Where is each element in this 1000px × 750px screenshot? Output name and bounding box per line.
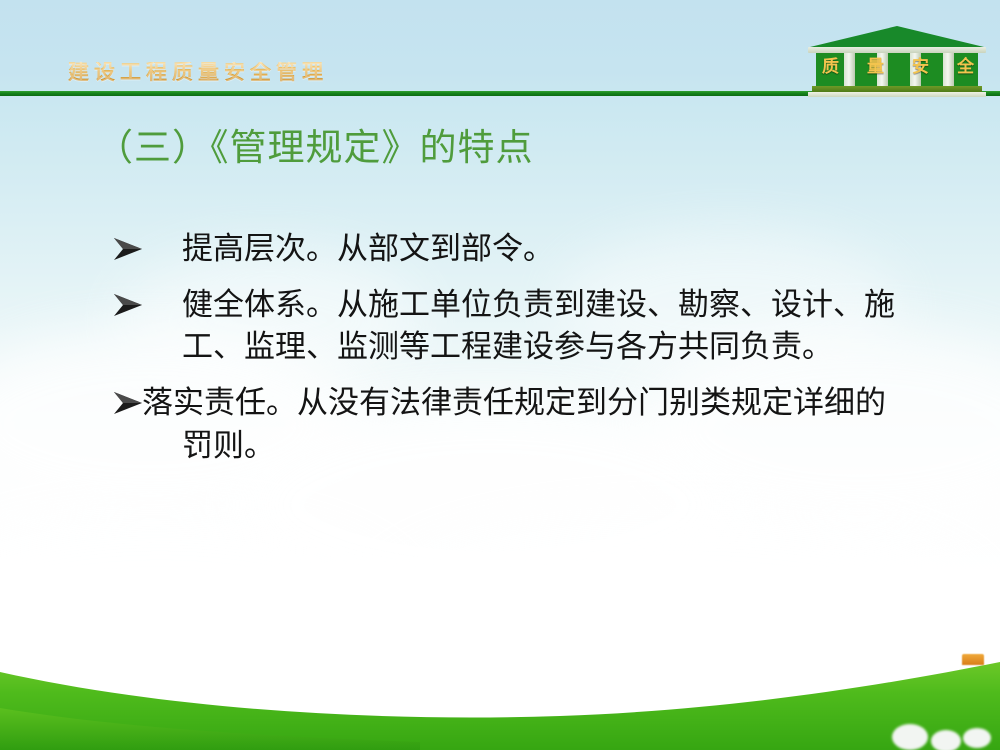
temple-base-lower [808, 92, 986, 97]
logo-char-1: 质 [822, 58, 839, 77]
hill-hut-decoration [962, 654, 984, 665]
logo-char-3: 安 [912, 58, 929, 77]
temple-roof-icon [810, 26, 984, 47]
bullet-text: 落实责任。从没有法律责任规定到分门别类规定详细的罚则。 [112, 382, 912, 466]
bullet-item: 健全体系。从施工单位负责到建设、勘察、设计、施工、监理、监测等工程建设参与各方共… [112, 284, 912, 368]
bullet-item: 落实责任。从没有法律责任规定到分门别类规定详细的罚则。 [112, 382, 912, 466]
presentation-slide: 建设工程质量安全管理 质 量 安 全 （三）《管理规定》的特点 [0, 0, 1000, 750]
grass-hill-decoration [0, 610, 1000, 750]
quality-safety-temple-logo: 质 量 安 全 [806, 26, 988, 98]
bullet-text: 提高层次。从部文到部令。 [112, 228, 912, 270]
logo-char-4: 全 [957, 58, 974, 77]
header-title: 建设工程质量安全管理 [68, 62, 328, 83]
slide-header: 建设工程质量安全管理 质 量 安 全 [0, 0, 1000, 100]
bullet-text: 健全体系。从施工单位负责到建设、勘察、设计、施工、监理、监测等工程建设参与各方共… [112, 284, 912, 368]
sheep-decoration [963, 728, 991, 748]
sheep-decoration [931, 730, 961, 750]
arrow-bullet-icon [112, 236, 146, 262]
logo-char-2: 量 [867, 58, 884, 77]
arrow-bullet-icon [112, 390, 146, 416]
slide-title: （三）《管理规定》的特点 [96, 126, 534, 170]
arrow-bullet-icon [112, 292, 146, 318]
bullet-item: 提高层次。从部文到部令。 [112, 228, 912, 270]
logo-text-group: 质 量 安 全 [822, 58, 974, 77]
slide-body-content: 提高层次。从部文到部令。 健全体系。从施工单位负责到建设、勘察、设计、施工、监理… [112, 228, 912, 481]
sheep-decoration [892, 724, 928, 750]
